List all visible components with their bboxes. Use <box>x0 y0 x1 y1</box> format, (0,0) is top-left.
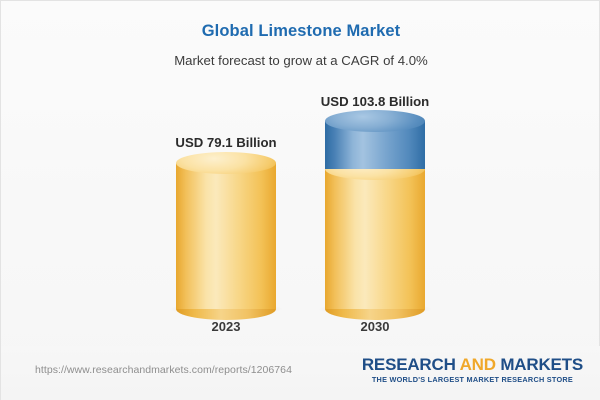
source-url[interactable]: https://www.researchandmarkets.com/repor… <box>35 364 292 376</box>
category-label-2030: 2030 <box>305 319 445 334</box>
bar-segment-growth-2030 <box>325 121 425 169</box>
category-label-2023: 2023 <box>156 319 296 334</box>
logo-wordmark: RESEARCH AND MARKETS <box>362 355 583 374</box>
bar-segment-base-2023 <box>176 163 276 309</box>
logo-word-and: AND <box>460 355 496 374</box>
bar-value-label-2023: USD 79.1 Billion <box>156 135 296 150</box>
research-and-markets-logo[interactable]: RESEARCH AND MARKETS THE WORLD'S LARGEST… <box>362 355 583 384</box>
chart-plot-area: USD 79.1 Billion 2023 USD 103.8 Billion <box>1 1 600 346</box>
bar-segment-body <box>325 169 425 309</box>
bar-group-2030: USD 103.8 Billion 2030 <box>305 1 445 346</box>
infographic-card: Global Limestone Market Market forecast … <box>0 0 600 400</box>
cylinder-bar-2030[interactable] <box>325 121 425 309</box>
logo-word-research: RESEARCH <box>362 355 456 374</box>
bar-value-label-2030: USD 103.8 Billion <box>305 94 445 109</box>
bar-group-2023: USD 79.1 Billion 2023 <box>156 1 296 346</box>
cylinder-bar-2023[interactable] <box>176 163 276 309</box>
bar-segment-top-cap <box>176 152 276 174</box>
chart-footer: https://www.researchandmarkets.com/repor… <box>1 346 600 400</box>
bar-segment-body <box>176 163 276 309</box>
logo-word-markets: MARKETS <box>500 355 583 374</box>
logo-tagline: THE WORLD'S LARGEST MARKET RESEARCH STOR… <box>362 375 583 384</box>
bar-segment-top-cap <box>325 110 425 132</box>
bar-segment-base-2030 <box>325 169 425 309</box>
